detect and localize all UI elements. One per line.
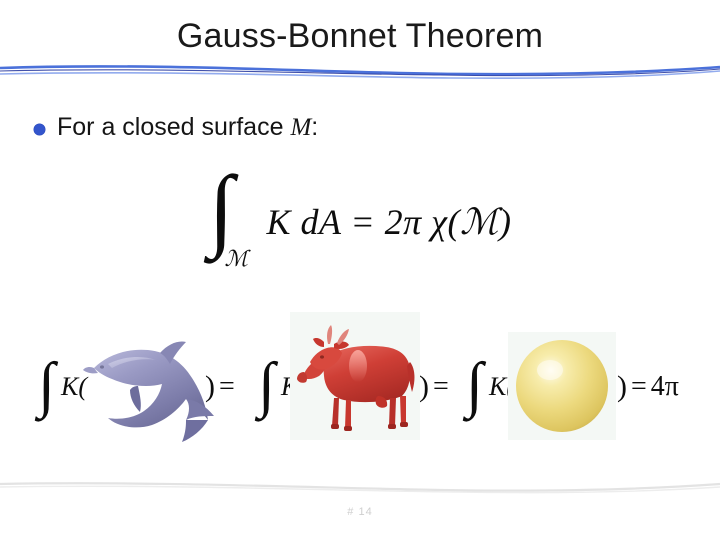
integral-subscript: ℳ — [225, 246, 249, 272]
equals-sign-3: = — [631, 371, 647, 403]
bullet-dot-icon — [34, 124, 45, 135]
integral-symbol-dolphin: ∫ — [38, 354, 55, 416]
slide-canvas: Gauss-Bonnet Theorem For a closed surfac… — [0, 0, 720, 540]
sphere-figure-backdrop — [508, 332, 616, 440]
result-value: 4π — [651, 371, 679, 403]
curvature-open-dolphin: K( — [61, 372, 87, 402]
surface-symbol: M — [290, 114, 311, 141]
figure-term-dolphin: ∫ K( ) = — [38, 356, 239, 418]
equals-sign-1: = — [219, 371, 235, 403]
curvature-close-sphere: ) — [617, 370, 627, 404]
equals-sign-2: = — [433, 371, 449, 403]
bullet-text-after: : — [311, 113, 318, 141]
curvature-close-dolphin: ) — [205, 370, 215, 404]
integral-symbol: ∫ ℳ — [209, 176, 253, 268]
equation-body: K dA = 2π χ(ℳ) — [253, 201, 512, 243]
curvature-close-cow: ) — [419, 370, 429, 404]
main-equation: ∫ ℳ K dA = 2π χ(ℳ) — [0, 176, 720, 273]
bullet-text: For a closed surface M: — [57, 112, 318, 143]
footer-divider — [0, 478, 720, 500]
page-title: Gauss-Bonnet Theorem — [0, 18, 720, 55]
integral-symbol-sphere: ∫ — [466, 354, 483, 416]
page-number: # 14 — [0, 506, 720, 518]
bullet-text-before: For a closed surface — [57, 113, 284, 141]
figure-equation-row: ∫ K( ) = — [0, 318, 720, 468]
header-divider — [0, 58, 720, 84]
integral-glyph: ∫ — [209, 162, 234, 254]
integral-symbol-cow: ∫ — [258, 354, 275, 416]
bullet-line: For a closed surface M: — [34, 112, 318, 143]
cow-figure-backdrop — [290, 312, 420, 440]
